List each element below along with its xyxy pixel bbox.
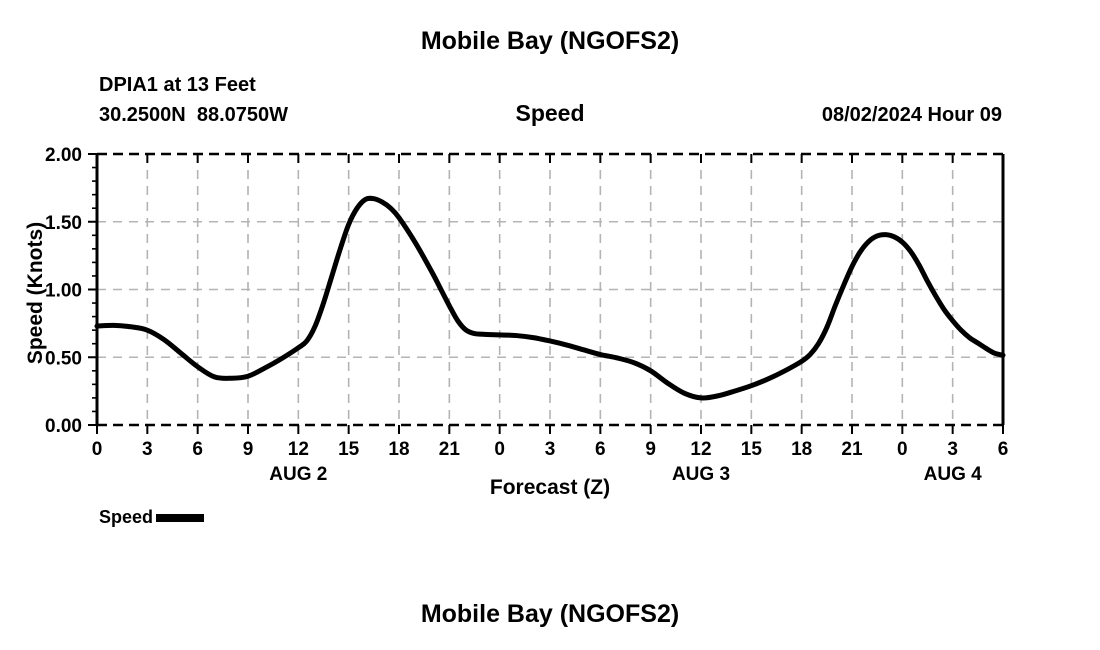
x-tick-label: 3: [142, 439, 153, 460]
x-tick-label: 12: [690, 439, 711, 460]
x-tick-label: 15: [338, 439, 360, 460]
y-tick-label: 0.50: [45, 348, 82, 369]
grid-lines: [97, 154, 1003, 425]
x-tick-label: 0: [897, 439, 908, 460]
y-tick-label: 1.00: [45, 281, 82, 302]
x-tick-label: 0: [494, 439, 505, 460]
x-tick-label: 15: [741, 439, 763, 460]
y-tick-label: 1.50: [45, 213, 82, 234]
bottom-caption: Mobile Bay (NGOFS2): [0, 600, 1100, 629]
chart-page: Mobile Bay (NGOFS2) DPIA1 at 13 Feet 30.…: [0, 0, 1100, 650]
x-tick-label: 12: [288, 439, 309, 460]
axis-tick-labels: 0.000.501.001.502.0003691215182103691215…: [45, 145, 1008, 485]
x-tick-label: 9: [645, 439, 656, 460]
x-axis-day-label: AUG 4: [924, 464, 983, 485]
x-tick-label: 6: [192, 439, 203, 460]
y-tick-label: 2.00: [45, 145, 82, 166]
axis-ticks: [88, 154, 1003, 434]
x-tick-label: 21: [841, 439, 863, 460]
x-tick-label: 6: [998, 439, 1009, 460]
x-tick-label: 6: [595, 439, 606, 460]
speed-time-series-chart: 0.000.501.001.502.0003691215182103691215…: [0, 0, 1100, 520]
x-tick-label: 21: [439, 439, 461, 460]
x-tick-label: 9: [243, 439, 254, 460]
x-tick-label: 3: [545, 439, 556, 460]
y-axis-title: Speed (Knots): [24, 222, 47, 364]
x-axis-title: Forecast (Z): [490, 476, 610, 499]
x-axis-day-label: AUG 3: [672, 464, 730, 485]
x-tick-label: 3: [947, 439, 958, 460]
y-tick-label: 0.00: [45, 416, 82, 437]
chart-legend: Speed: [99, 507, 204, 528]
x-tick-label: 0: [92, 439, 103, 460]
legend-label: Speed: [99, 507, 153, 528]
legend-line-swatch: [156, 514, 204, 522]
x-tick-label: 18: [388, 439, 409, 460]
x-tick-label: 18: [791, 439, 812, 460]
x-axis-day-label: AUG 2: [269, 464, 327, 485]
